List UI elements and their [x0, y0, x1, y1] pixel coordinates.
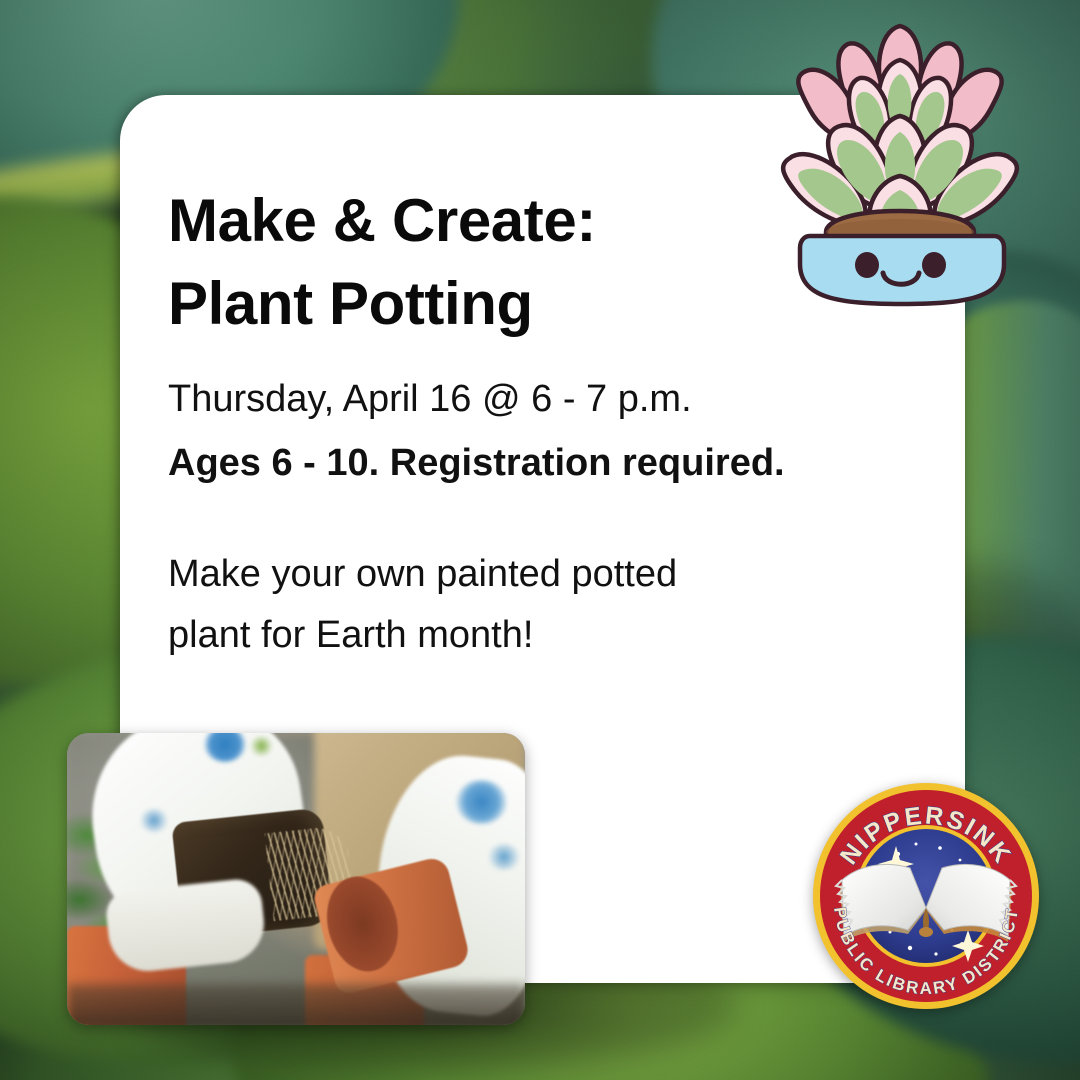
event-description: Make your own painted potted plant for E… — [168, 544, 868, 667]
photo-ground — [67, 984, 525, 1025]
event-flyer: Make & Create: Plant Potting Thursday, A… — [0, 0, 1080, 1080]
photo-glove-floral-dot — [456, 780, 506, 824]
kawaii-succulent-icon — [748, 8, 1058, 308]
photo-glove-floral-dot — [140, 809, 167, 832]
event-details: Thursday, April 16 @ 6 - 7 p.m. Ages 6 -… — [168, 380, 868, 482]
sticker-left-eye — [855, 252, 879, 278]
library-logo: NIPPERSINK PUBLIC LIBRARY DISTRICT — [812, 782, 1040, 1010]
sticker-right-eye — [922, 252, 946, 278]
event-datetime: Thursday, April 16 @ 6 - 7 p.m. — [168, 380, 868, 418]
event-ages-registration: Ages 6 - 10. Registration required. — [168, 444, 868, 482]
repotting-photo — [67, 733, 525, 1025]
